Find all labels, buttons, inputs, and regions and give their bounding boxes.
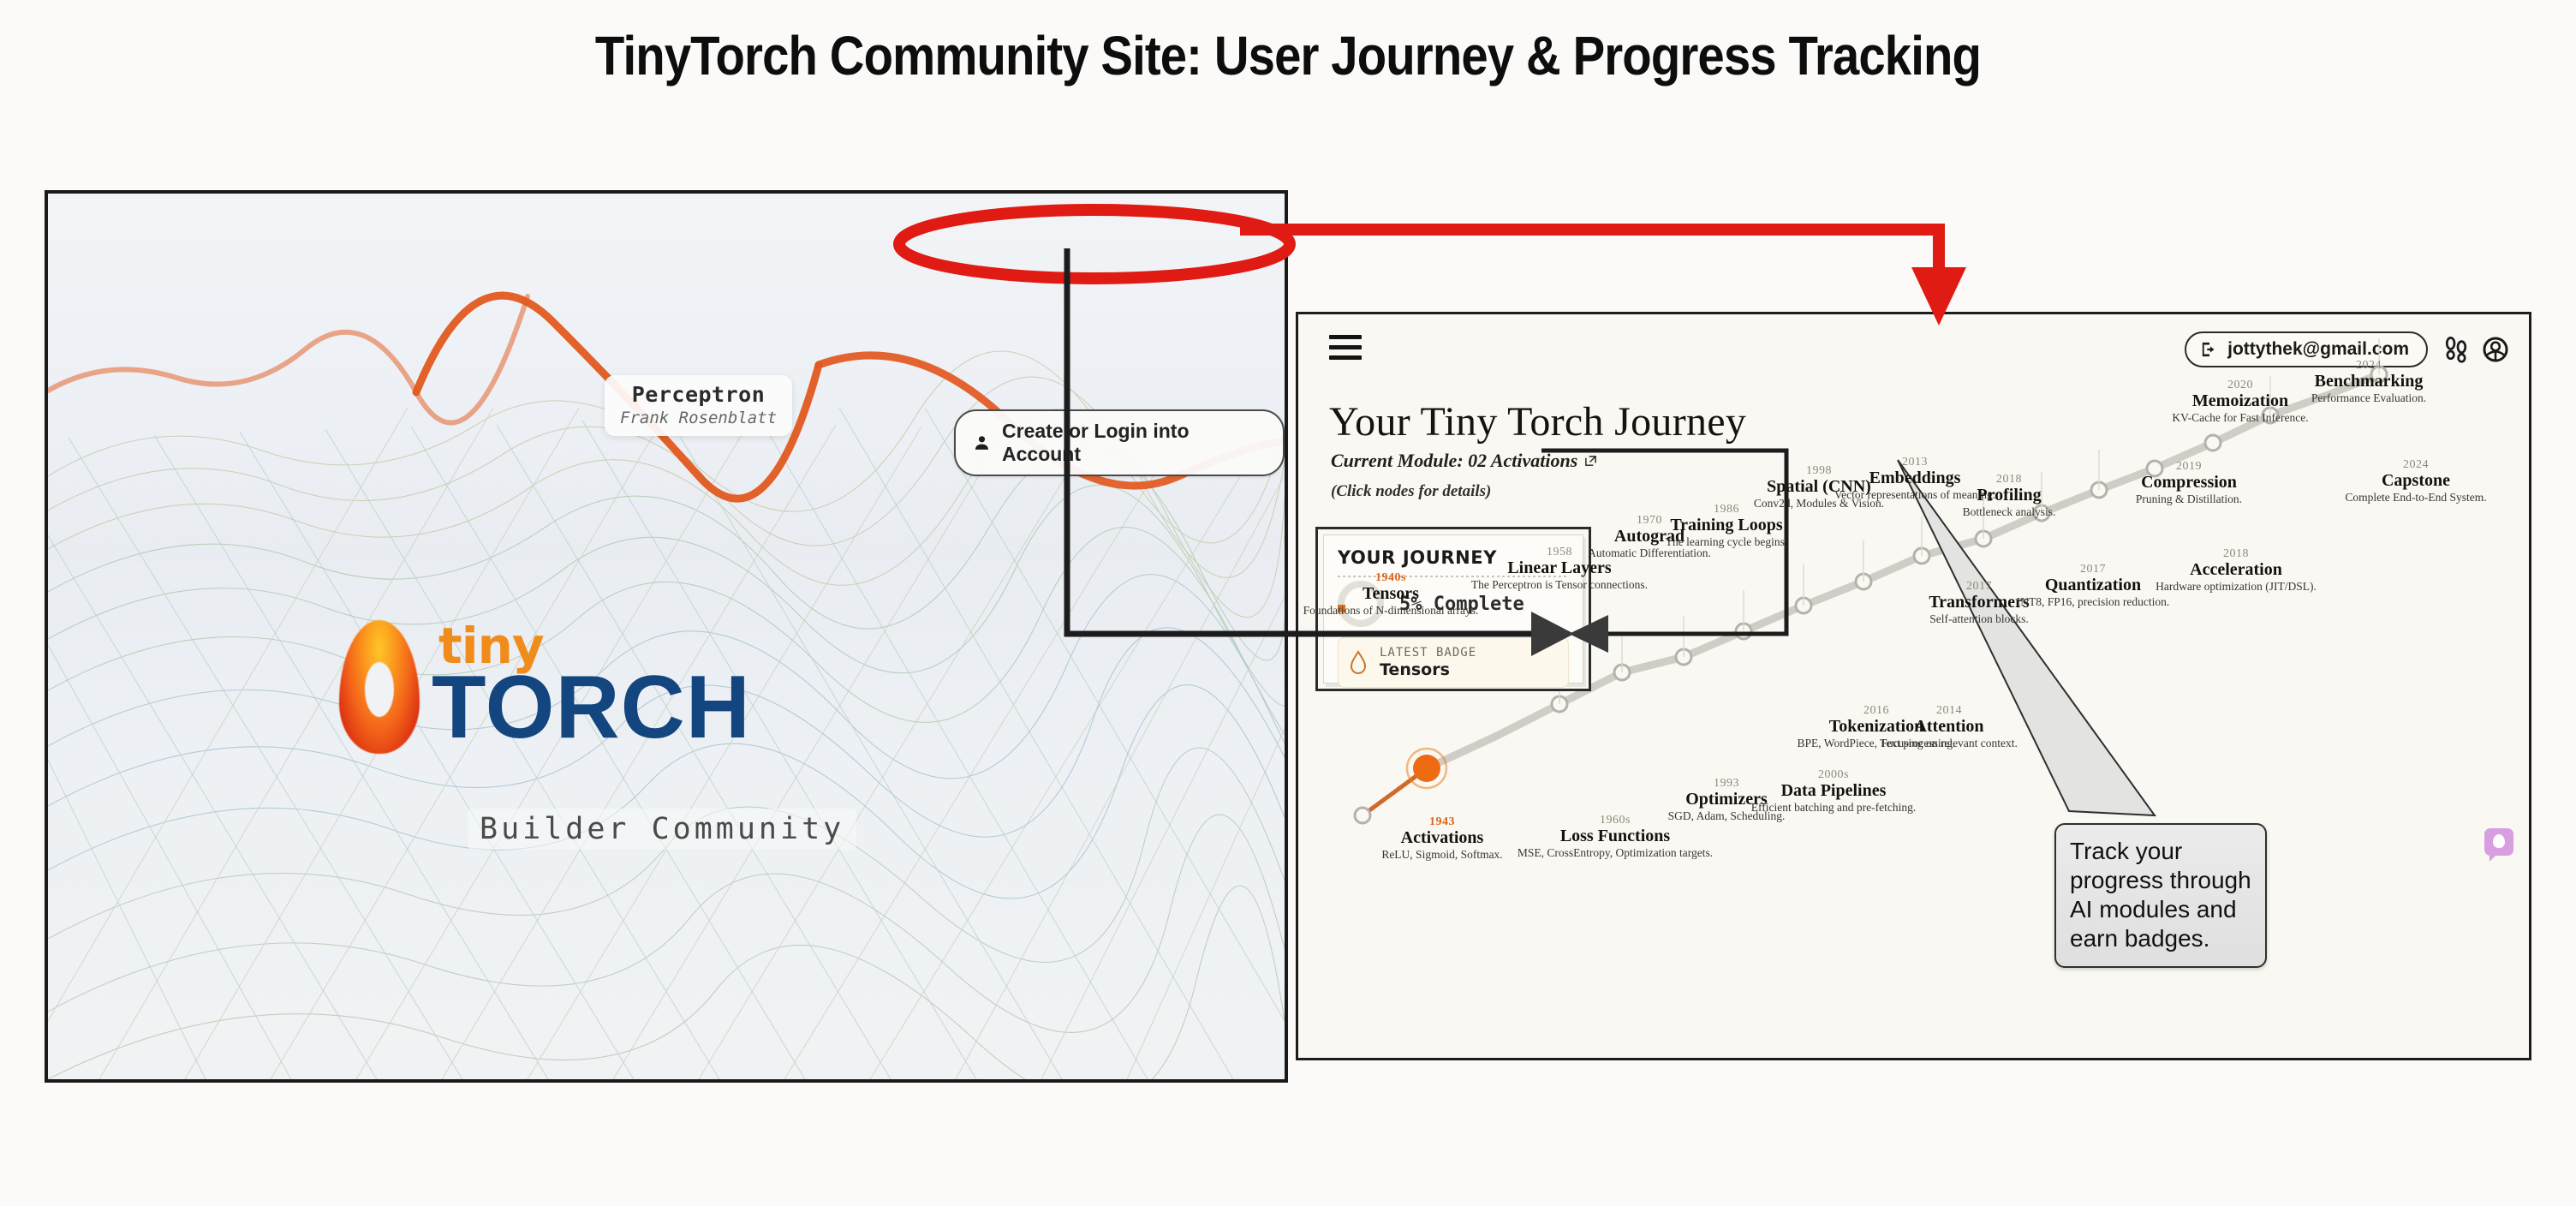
person-icon (973, 433, 991, 452)
timeline-node[interactable]: 2024BenchmarkingPerformance Evaluation. (2270, 359, 2467, 404)
timeline-node-year: 2024 (2317, 458, 2514, 472)
timeline-node-desc: Self-attention blocks. (1881, 612, 2078, 625)
timeline-node[interactable]: 2019CompressionPruning & Distillation. (2090, 460, 2287, 505)
timeline-node-desc: The learning cycle begins. (1628, 535, 1825, 548)
timeline-node-name: Training Loops (1628, 516, 1825, 534)
landing-page-panel: Perceptron Frank Rosenblatt Create or Lo… (45, 190, 1288, 1083)
timeline-node-name: Tokenization (1778, 718, 1975, 736)
timeline-node[interactable]: 2000sData PipelinesEfficient batching an… (1735, 768, 1932, 814)
timeline-node[interactable]: 1943ActivationsReLU, Sigmoid, Softmax. (1344, 815, 1541, 861)
login-button-label: Create or Login into Account (1002, 420, 1261, 466)
latest-badge-label: LATEST BADGE (1380, 646, 1476, 660)
timeline-node[interactable]: 2018ProfilingBottleneck analysis. (1911, 473, 2108, 518)
timeline-node-desc: Hardware optimization (JIT/DSL). (2138, 580, 2334, 593)
timeline-node-year: 2013 (1816, 456, 2013, 469)
timeline-node-desc: ReLU, Sigmoid, Softmax. (1344, 848, 1541, 861)
timeline-node-desc: KV-Cache for Fast Inference. (2142, 411, 2339, 424)
timeline-node-year: 2019 (2090, 460, 2287, 474)
red-flow-arrow-line (1240, 230, 1939, 272)
chat-bubble-icon[interactable] (2484, 828, 2513, 856)
flame-drop-icon (1349, 650, 1368, 676)
tinytorch-logo: tiny TORCH (339, 620, 751, 754)
timeline-node-year: 2024 (2270, 359, 2467, 373)
timeline-node-name: Data Pipelines (1735, 782, 1932, 800)
dashboard-panel: jottythek@gmail.com Your Tiny Torch Jour… (1296, 312, 2531, 1060)
timeline-node-year: 2016 (1778, 704, 1975, 718)
timeline-node-desc: Foundations of N-dimensional arrays. (1296, 604, 1489, 617)
timeline-node-name: Loss Functions (1517, 827, 1714, 845)
tooltip-subtitle: Frank Rosenblatt (620, 409, 777, 427)
chat-glyph (2493, 834, 2505, 848)
timeline-node[interactable]: 2016TokenizationBPE, WordPiece, Text pro… (1778, 704, 1975, 749)
timeline-node[interactable]: 2018AccelerationHardware optimization (J… (2138, 547, 2334, 593)
timeline-node-name: Acceleration (2138, 561, 2334, 579)
timeline-node-desc: Performance Evaluation. (2270, 391, 2467, 404)
timeline-node[interactable]: 2024CapstoneComplete End-to-End System. (2317, 458, 2514, 504)
timeline-node-year: 1943 (1344, 815, 1541, 829)
flame-icon (339, 620, 420, 754)
timeline-node-desc: Efficient batching and pre-fetching. (1735, 801, 1932, 814)
timeline-node-desc: Complete End-to-End System. (2317, 491, 2514, 504)
timeline-node-desc: BPE, WordPiece, Text processing. (1778, 737, 1975, 749)
timeline-node-desc: INT8, FP16, precision reduction. (1995, 595, 2191, 608)
logo-torch-text: TORCH (432, 667, 751, 749)
latest-badge-box[interactable]: LATEST BADGE Tensors (1338, 637, 1569, 688)
timeline-node-desc: The Perceptron is Tensor connections. (1461, 578, 1658, 591)
timeline-node-desc: Pruning & Distillation. (2090, 493, 2287, 505)
create-or-login-button[interactable]: Create or Login into Account (954, 409, 1285, 476)
timeline-node-desc: Bottleneck analysis. (1911, 505, 2108, 518)
timeline-node-name: Linear Layers (1461, 559, 1658, 577)
callout-bubble: Track your progress through AI modules a… (2054, 823, 2267, 968)
timeline-node-desc: MSE, CrossEntropy, Optimization targets. (1517, 846, 1714, 859)
timeline-node-year: 2018 (1911, 473, 2108, 487)
page-title: TinyTorch Community Site: User Journey &… (154, 24, 2421, 87)
tooltip-title: Perceptron (620, 382, 777, 407)
latest-badge-name: Tensors (1380, 660, 1476, 679)
timeline-node-name: Compression (2090, 474, 2287, 492)
history-node-tooltip: Perceptron Frank Rosenblatt (605, 375, 792, 436)
timeline-node-year: 2018 (2138, 547, 2334, 561)
timeline-node-name: Profiling (1911, 487, 2108, 504)
logo-tagline: Builder Community (468, 809, 856, 850)
timeline-node-name: Activations (1344, 829, 1541, 847)
timeline-node-name: Capstone (2317, 472, 2514, 490)
timeline-node-year: 2000s (1735, 768, 1932, 782)
timeline-node-desc: Automatic Differentiation. (1551, 546, 1748, 559)
timeline-node-name: Benchmarking (2270, 373, 2467, 391)
